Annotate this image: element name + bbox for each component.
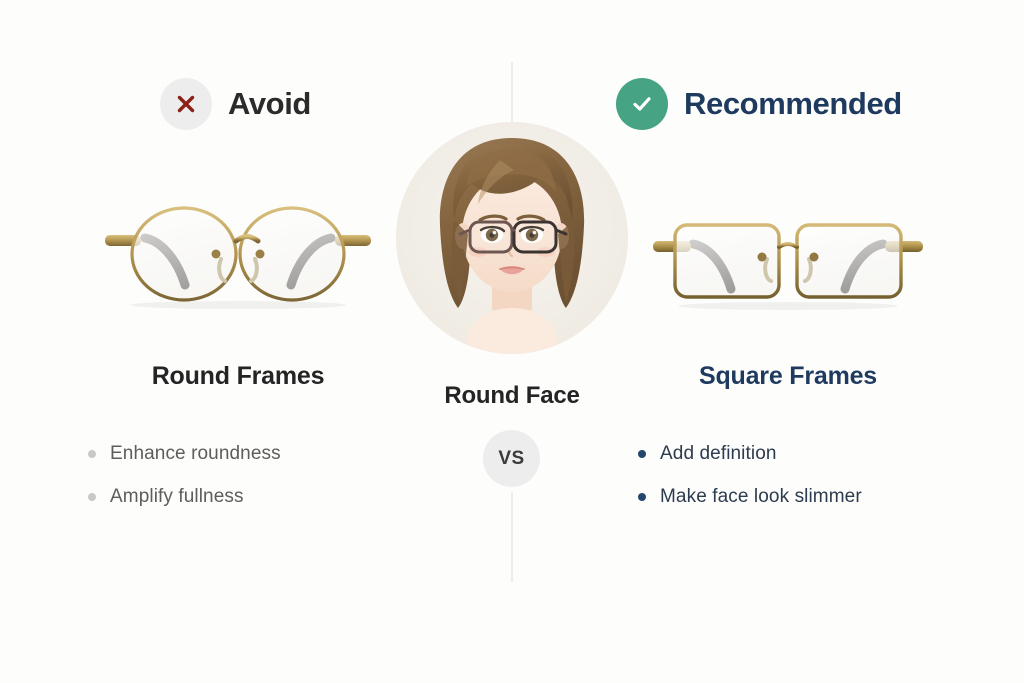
recommended-bullet-list: Add definition Make face look slimmer (638, 432, 968, 518)
list-item-label: Amplify fullness (110, 486, 244, 508)
round-eyeglasses-photo (88, 190, 388, 320)
avoid-header: Avoid (160, 78, 311, 130)
center-caption: Round Face (382, 382, 642, 410)
x-mark-icon (160, 78, 212, 130)
square-eyeglasses-photo (638, 190, 938, 320)
list-item-label: Make face look slimmer (660, 486, 862, 508)
bullet-dot-icon (638, 450, 646, 458)
vs-badge: VS (483, 430, 540, 487)
bullet-dot-icon (638, 493, 646, 501)
recommended-label: Recommended (684, 86, 902, 122)
divider-line-bottom (511, 492, 513, 582)
list-item: Make face look slimmer (638, 475, 968, 518)
list-item: Amplify fullness (88, 475, 418, 518)
bullet-dot-icon (88, 450, 96, 458)
list-item-label: Add definition (660, 443, 777, 465)
infographic-canvas: Avoid Recommended (0, 0, 1024, 683)
list-item: Add definition (638, 432, 968, 475)
avoid-label: Avoid (228, 86, 311, 122)
bullet-dot-icon (88, 493, 96, 501)
square-frames-title: Square Frames (638, 362, 938, 391)
avoid-bullet-list: Enhance roundness Amplify fullness (88, 432, 418, 518)
list-item: Enhance roundness (88, 432, 418, 475)
check-mark-icon (616, 78, 668, 130)
recommended-header: Recommended (616, 78, 902, 130)
list-item-label: Enhance roundness (110, 443, 281, 465)
round-face-woman-illustration (396, 122, 628, 354)
round-frames-title: Round Frames (88, 362, 388, 391)
